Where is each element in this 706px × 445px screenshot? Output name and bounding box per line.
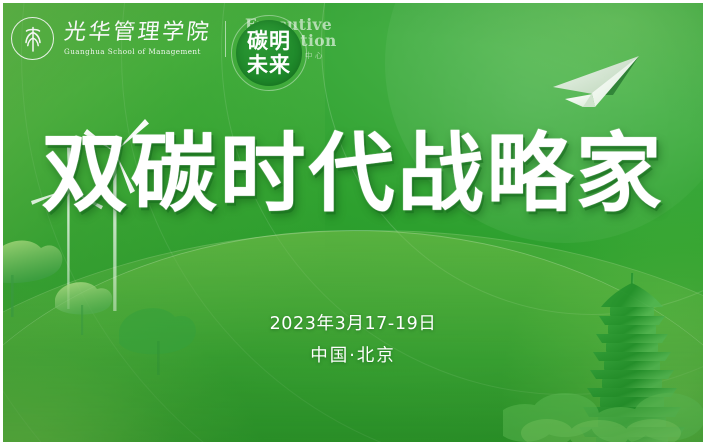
event-meta: 2023年3月17-19日 中国·北京 — [3, 315, 703, 367]
page-title: 双碳时代战略家 — [3, 131, 703, 217]
event-location: 中国·北京 — [3, 347, 703, 366]
conference-poster: 光华管理学院 Guanghua School of Management Exe… — [0, 0, 706, 445]
event-date: 2023年3月17-19日 — [3, 315, 703, 334]
